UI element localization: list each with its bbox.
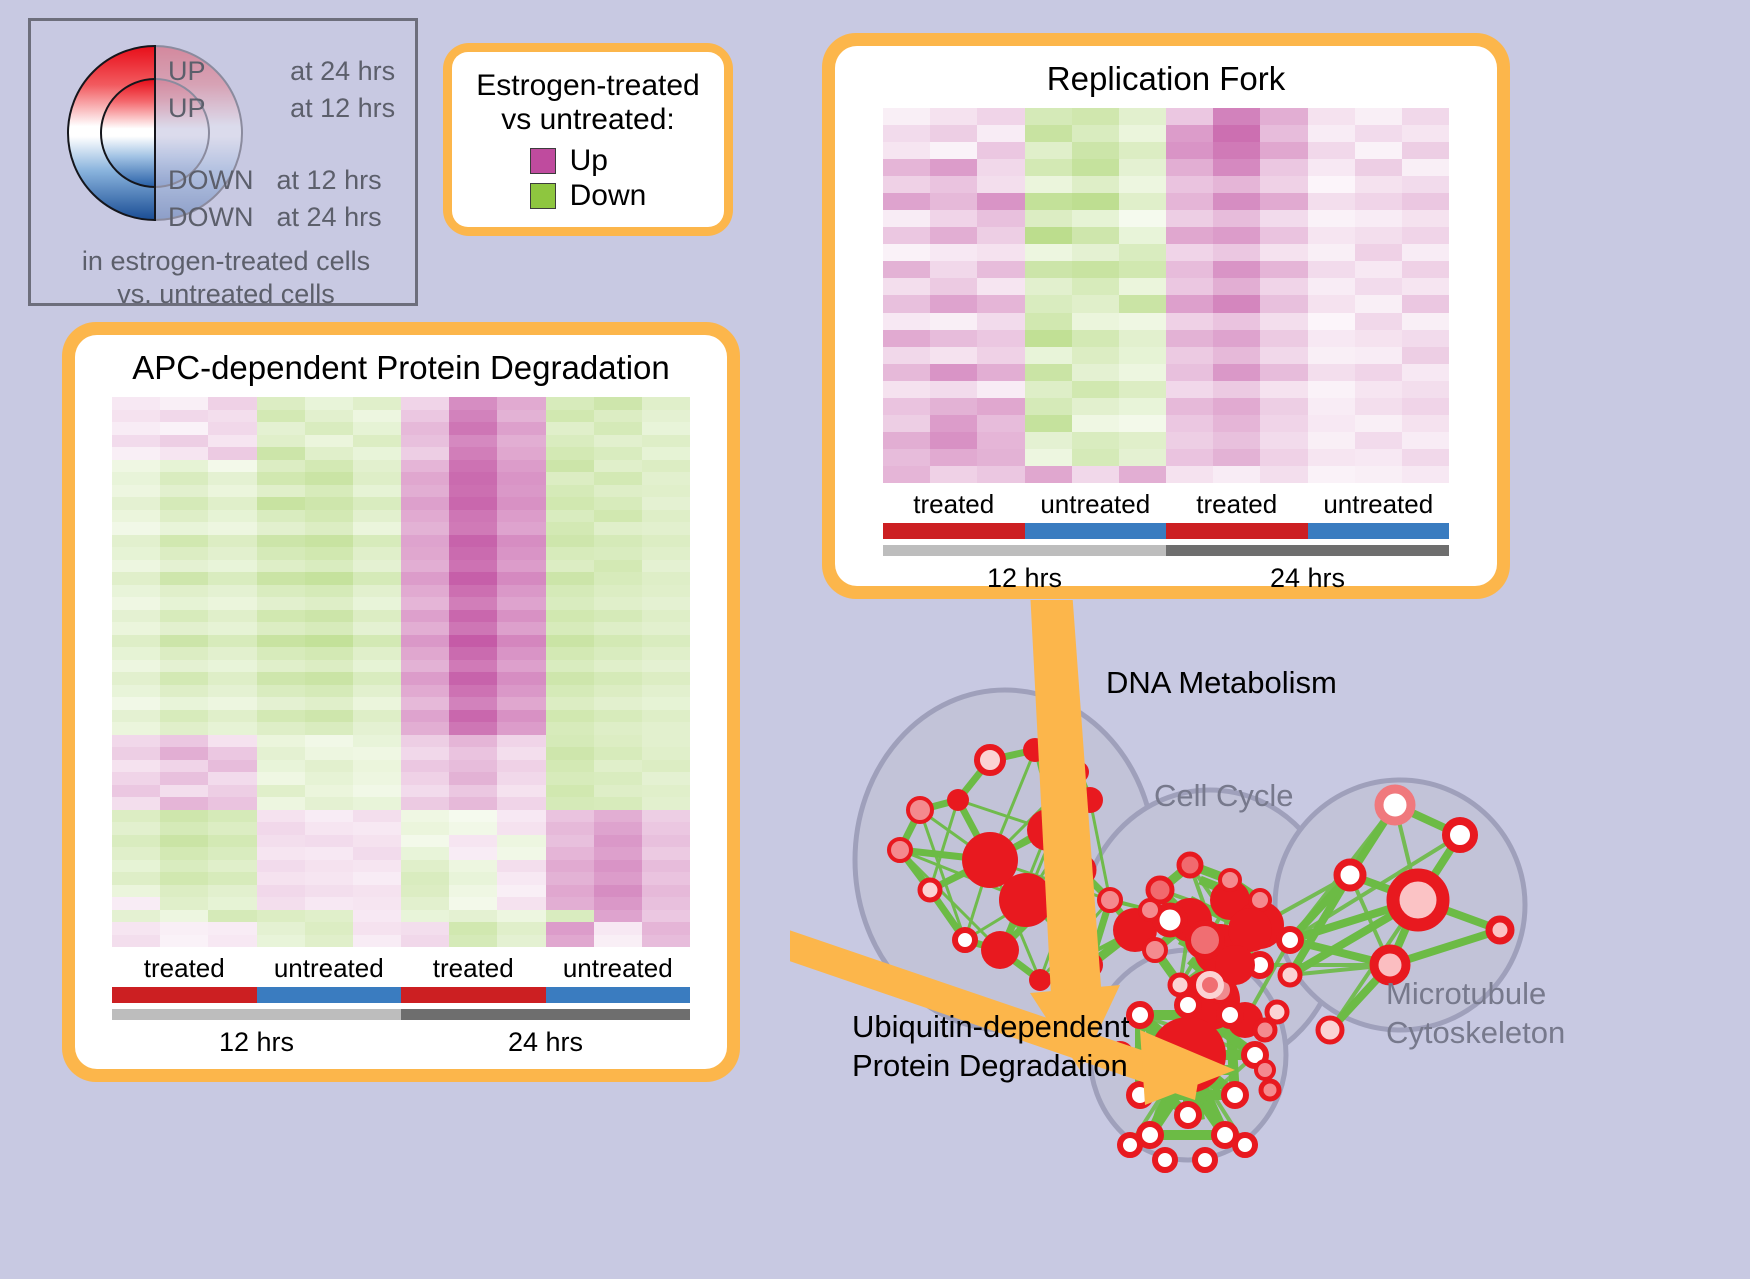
heatmap-cell	[257, 835, 305, 848]
heatmap-cell	[208, 847, 256, 860]
heatmap-cell	[977, 432, 1024, 449]
heatmap-cell	[1072, 193, 1119, 210]
node	[1280, 965, 1300, 985]
heatmap-cell	[112, 485, 160, 498]
node	[1129, 1004, 1151, 1026]
heatmap-cell	[1072, 295, 1119, 312]
heatmap-cell	[353, 810, 401, 823]
heatmap-cell	[497, 635, 545, 648]
heatmap-cell	[401, 535, 449, 548]
heatmap-cell	[642, 747, 690, 760]
heatmap-cell	[1402, 330, 1449, 347]
heatmap-cell	[208, 510, 256, 523]
heatmap-cell	[930, 227, 977, 244]
heatmap-cell	[401, 685, 449, 698]
heatmap-cell	[642, 560, 690, 573]
heatmap-cell	[353, 397, 401, 410]
heatmap-cell	[594, 810, 642, 823]
heatmap-cell	[1025, 347, 1072, 364]
heatmap-cell	[1355, 415, 1402, 432]
heatmap-cell	[594, 872, 642, 885]
heatmap-cell	[1402, 193, 1449, 210]
heatmap-cell	[1402, 295, 1449, 312]
heatmap-cell	[257, 797, 305, 810]
heatmap-cell	[1025, 244, 1072, 261]
heatmap-cell	[305, 785, 353, 798]
heatmap-cell	[353, 535, 401, 548]
heatmap-cell	[546, 785, 594, 798]
heatmap-cell	[1119, 210, 1166, 227]
heatmap-cell	[977, 142, 1024, 159]
heatmap-cell	[1213, 210, 1260, 227]
colorbar-center-divider	[154, 45, 156, 221]
heatmap-cell	[497, 572, 545, 585]
heatmap-cell	[1119, 193, 1166, 210]
heatmap-cell	[594, 672, 642, 685]
heatmap-cell	[208, 610, 256, 623]
heatmap-cell	[257, 885, 305, 898]
heatmap-cell	[977, 261, 1024, 278]
heatmap-cell	[305, 697, 353, 710]
heatmap-cell	[1402, 381, 1449, 398]
heatmap-cell	[305, 410, 353, 423]
heatmap-cell	[1025, 432, 1072, 449]
heatmap-cell	[257, 897, 305, 910]
heatmap-cell	[401, 522, 449, 535]
heatmap-cell	[1166, 398, 1213, 415]
heatmap-cell	[112, 697, 160, 710]
heatmap-cell	[160, 797, 208, 810]
heatmap-cell	[1308, 364, 1355, 381]
heatmap-cell	[594, 422, 642, 435]
heatmap-cell	[353, 510, 401, 523]
heatmap-cell	[594, 610, 642, 623]
heatmap-cell	[497, 897, 545, 910]
heatmap-cell	[353, 597, 401, 610]
heatmap-cell	[1072, 381, 1119, 398]
heatmap-cell	[1213, 295, 1260, 312]
heatmap-cell	[1213, 278, 1260, 295]
heatmap-cell	[977, 381, 1024, 398]
node	[1177, 994, 1199, 1016]
heatmap-cell	[305, 635, 353, 648]
heatmap-cell	[257, 785, 305, 798]
heatmap-cell	[208, 422, 256, 435]
heatmap-cell	[1072, 398, 1119, 415]
heatmap-cell	[883, 415, 930, 432]
heatmap-cell	[497, 872, 545, 885]
heatmap-cell	[449, 435, 497, 448]
heatmap-cell	[353, 847, 401, 860]
heatmap-cell	[1166, 278, 1213, 295]
heatmap-cell	[1355, 159, 1402, 176]
node	[1235, 1135, 1255, 1155]
heatmap-cell	[546, 885, 594, 898]
heatmap-cell	[449, 847, 497, 860]
heatmap-cell	[1025, 142, 1072, 159]
heatmap-cell	[594, 685, 642, 698]
heatmap-cell	[449, 760, 497, 773]
heatmap-cell	[594, 860, 642, 873]
heatmap-cell	[160, 847, 208, 860]
heatmap-cell	[546, 560, 594, 573]
heatmap-cell	[305, 472, 353, 485]
node	[981, 931, 1019, 969]
heatmap-cell	[1213, 176, 1260, 193]
node	[1379, 789, 1411, 821]
heatmap-cell	[160, 697, 208, 710]
heatmap-cell	[305, 572, 353, 585]
heatmap-cell	[594, 597, 642, 610]
heatmap-cell	[401, 622, 449, 635]
node	[889, 839, 911, 861]
heatmap-cell	[642, 685, 690, 698]
heatmap-cell	[546, 810, 594, 823]
group-labels-replication-fork: treated untreated treated untreated	[883, 483, 1449, 523]
heatmap-cell	[883, 364, 930, 381]
heatmap-cell	[1166, 381, 1213, 398]
time-label-12hrs: 12 hrs	[112, 1020, 401, 1058]
heatmap-cell	[497, 610, 545, 623]
heatmap-cell	[642, 710, 690, 723]
heatmap-cell	[160, 910, 208, 923]
heatmap-cell	[208, 897, 256, 910]
heatmap-cell	[1402, 364, 1449, 381]
heatmap-cell	[305, 872, 353, 885]
heatmap-cell	[160, 422, 208, 435]
node	[1179, 854, 1201, 876]
heatmap-cell	[112, 835, 160, 848]
heatmap-cell	[305, 597, 353, 610]
heatmap-cell	[497, 685, 545, 698]
heatmap-cell	[883, 176, 930, 193]
heatmap-cell	[112, 885, 160, 898]
heatmap-cell	[497, 535, 545, 548]
heatmap-cell	[401, 835, 449, 848]
heatmap-cell	[1025, 415, 1072, 432]
heatmap-cell	[977, 313, 1024, 330]
heatmap-cell	[930, 449, 977, 466]
heatmap-cell	[1072, 278, 1119, 295]
heatmap-cell	[401, 460, 449, 473]
group-label-1: untreated	[1025, 483, 1167, 523]
heatmap-cell	[546, 760, 594, 773]
heatmap-cell	[112, 660, 160, 673]
heatmap-cell	[305, 797, 353, 810]
treatment-bar-replication-fork	[883, 523, 1449, 539]
heatmap-cell	[160, 772, 208, 785]
heatmap-cell	[257, 472, 305, 485]
heatmap-cell	[642, 585, 690, 598]
heatmap-cell	[1072, 449, 1119, 466]
heatmap-cell	[642, 860, 690, 873]
heatmap-cell	[449, 697, 497, 710]
heatmap-cell	[1166, 108, 1213, 125]
heatmap-cell	[883, 244, 930, 261]
time-labels-apc: 12 hrs 24 hrs	[112, 1020, 690, 1058]
heatmap-cell	[257, 547, 305, 560]
heatmap-cell	[497, 810, 545, 823]
heatmap-cell	[257, 422, 305, 435]
heatmap-cell	[257, 572, 305, 585]
heatmap-cell	[353, 747, 401, 760]
panel-title-apc: APC-dependent Protein Degradation	[132, 349, 670, 387]
heatmap-cell	[401, 422, 449, 435]
heatmap-cell	[449, 685, 497, 698]
heatmap-cell	[449, 635, 497, 648]
treatment-seg-2	[1166, 523, 1308, 539]
heatmap-cell	[1308, 278, 1355, 295]
heatmap-cell	[642, 885, 690, 898]
heatmap-cell	[1166, 415, 1213, 432]
heatmap-cell	[1119, 227, 1166, 244]
heatmap-cell	[1402, 449, 1449, 466]
heatmap-cell	[546, 635, 594, 648]
heatmap-cell	[546, 435, 594, 448]
heatmap-cell	[1213, 142, 1260, 159]
heatmap-cell	[977, 125, 1024, 142]
heatmap-cell	[546, 672, 594, 685]
heatmap-cell	[930, 142, 977, 159]
node	[1337, 862, 1363, 888]
heatmap-cell	[594, 510, 642, 523]
cluster-label-ubiquitin: Ubiquitin-dependent Protein Degradation	[852, 1008, 1130, 1086]
heatmap-cell	[1308, 261, 1355, 278]
heatmap-cell	[1402, 466, 1449, 483]
heatmap-cell	[401, 397, 449, 410]
heatmap-cell	[546, 647, 594, 660]
heatmap-cell	[883, 381, 930, 398]
heatmap-cell	[160, 785, 208, 798]
heatmap-cell	[112, 585, 160, 598]
heatmap-cell	[546, 735, 594, 748]
heatmap-cell	[160, 647, 208, 660]
heatmap-cell	[160, 660, 208, 673]
heatmap-cell	[353, 622, 401, 635]
heatmap-cell	[160, 860, 208, 873]
heatmap-cell	[353, 547, 401, 560]
heatmap-cell	[208, 922, 256, 935]
heatmap-cell	[353, 435, 401, 448]
heatmap-cell	[112, 560, 160, 573]
heatmap-cell	[642, 410, 690, 423]
heatmap-cell	[1119, 176, 1166, 193]
heatmap-cell	[449, 585, 497, 598]
heatmap-cell	[546, 747, 594, 760]
heatmap-cell	[497, 597, 545, 610]
heatmap-cell	[1355, 227, 1402, 244]
heatmap-cell	[353, 410, 401, 423]
heatmap-cell	[112, 822, 160, 835]
heatmap-cell	[160, 710, 208, 723]
heatmap-cell	[1072, 313, 1119, 330]
heatmap-cell	[642, 760, 690, 773]
heatmap-cell	[305, 510, 353, 523]
heatmap-cell	[1213, 159, 1260, 176]
heatmap-cell	[305, 485, 353, 498]
heatmap-cell	[401, 897, 449, 910]
heatmap-cell	[1308, 398, 1355, 415]
heatmap-cell	[257, 672, 305, 685]
heatmap-cell	[546, 835, 594, 848]
heatmap-cell	[977, 364, 1024, 381]
node	[1446, 821, 1474, 849]
heatmap-cell	[1072, 244, 1119, 261]
heatmap-cell	[546, 822, 594, 835]
heatmap-cell	[208, 410, 256, 423]
heatmap-cell	[401, 510, 449, 523]
heatmap-cell	[642, 647, 690, 660]
heatmap-cell	[401, 485, 449, 498]
heatmap-cell	[642, 660, 690, 673]
heatmap-cell	[449, 647, 497, 660]
heatmap-cell	[497, 672, 545, 685]
heatmap-cell	[642, 722, 690, 735]
heatmap-cell	[594, 822, 642, 835]
heatmap-cell	[160, 522, 208, 535]
heatmap-cell	[594, 572, 642, 585]
heatmap-cell	[1072, 261, 1119, 278]
heatmap-cell	[930, 261, 977, 278]
heatmap-cell	[1119, 364, 1166, 381]
heatmap-cell	[1402, 244, 1449, 261]
heatmap-cell	[449, 672, 497, 685]
heatmap-cell	[401, 572, 449, 585]
heatmap-cell	[160, 535, 208, 548]
heatmap-cell	[401, 672, 449, 685]
heatmap-cell	[401, 910, 449, 923]
heatmap-cell	[594, 835, 642, 848]
heatmap-cell	[1355, 125, 1402, 142]
heatmap-cell	[642, 697, 690, 710]
heatmap-cell	[883, 466, 930, 483]
heatmap-cell	[353, 610, 401, 623]
node	[1155, 1150, 1175, 1170]
heatmap-cell	[208, 535, 256, 548]
heatmap-cell	[1119, 330, 1166, 347]
heatmap-cell	[305, 660, 353, 673]
heatmap-cell	[930, 193, 977, 210]
heatmap-cell	[257, 597, 305, 610]
heatmap-cell	[208, 822, 256, 835]
node	[1220, 870, 1240, 890]
heatmap-cell	[1119, 398, 1166, 415]
heatmap-cell	[1355, 313, 1402, 330]
heatmap-cell	[497, 847, 545, 860]
heatmap-cell	[1260, 347, 1307, 364]
heatmap-cell	[1260, 466, 1307, 483]
heatmap-cell	[1308, 432, 1355, 449]
heatmap-cell	[546, 597, 594, 610]
heatmap-cell	[930, 364, 977, 381]
heatmap-cell	[401, 760, 449, 773]
heatmap-cell	[257, 735, 305, 748]
heatmap-cell	[642, 810, 690, 823]
heatmap-cell	[642, 572, 690, 585]
heatmap-cell	[977, 330, 1024, 347]
heatmap-cell	[594, 410, 642, 423]
heatmap-cell	[497, 747, 545, 760]
heatmap-cell	[401, 710, 449, 723]
heatmap-cell	[112, 547, 160, 560]
heatmap-cell	[642, 672, 690, 685]
heatmap-cell	[449, 622, 497, 635]
heatmap-cell	[401, 747, 449, 760]
heatmap-cell	[160, 672, 208, 685]
heatmap-cell	[257, 910, 305, 923]
cluster-label-ub-line1: Ubiquitin-dependent	[852, 1008, 1130, 1047]
heatmap-cell	[112, 447, 160, 460]
heatmap-cell	[497, 835, 545, 848]
heatmap-cell	[1355, 466, 1402, 483]
heatmap-cell	[112, 847, 160, 860]
heatmap-cell	[930, 159, 977, 176]
heatmap-cell	[401, 822, 449, 835]
heatmap-cell	[1025, 364, 1072, 381]
heatmap-cell	[257, 560, 305, 573]
heatmap-cell	[160, 485, 208, 498]
heatmap-cell	[546, 797, 594, 810]
node	[1250, 890, 1270, 910]
heatmap-cell	[208, 647, 256, 660]
heatmap-cell	[594, 435, 642, 448]
heatmap-cell	[1025, 381, 1072, 398]
up-swatch-icon	[530, 148, 556, 174]
heatmap-cell	[1166, 295, 1213, 312]
heatmap-cell	[401, 785, 449, 798]
treatment-seg-0	[883, 523, 1025, 539]
heatmap-cell	[1213, 125, 1260, 142]
heatmap-cell	[1213, 432, 1260, 449]
heatmap-cell	[1308, 125, 1355, 142]
heatmap-cell	[642, 435, 690, 448]
heatmap-cell	[305, 722, 353, 735]
heatmap-cell	[642, 797, 690, 810]
heatmap-cell	[642, 510, 690, 523]
heatmap-cell	[594, 697, 642, 710]
heatmap-cell	[1072, 432, 1119, 449]
heatmap-cell	[112, 685, 160, 698]
heatmap-cell	[883, 159, 930, 176]
time-seg-24hrs	[1166, 545, 1449, 556]
heatmap-cell	[353, 897, 401, 910]
heatmap-cell	[546, 572, 594, 585]
heatmap-cell	[1025, 159, 1072, 176]
heatmap-cell	[353, 910, 401, 923]
heatmap-cell	[257, 660, 305, 673]
heatmap-cell	[1213, 330, 1260, 347]
heatmap-cell	[1355, 449, 1402, 466]
heatmap-cell	[1308, 449, 1355, 466]
heatmap-cell	[497, 460, 545, 473]
heatmap-cell	[497, 860, 545, 873]
heatmap-cell	[401, 847, 449, 860]
network-svg	[790, 600, 1750, 1279]
heatmap-cell	[305, 497, 353, 510]
heatmap-cell	[112, 797, 160, 810]
heatmap-cell	[160, 572, 208, 585]
heatmap-cell	[930, 432, 977, 449]
node	[920, 880, 940, 900]
heatmap-cell	[642, 897, 690, 910]
heatmap-cell	[257, 410, 305, 423]
heatmap-cell	[497, 397, 545, 410]
group-label-3: untreated	[546, 947, 691, 987]
heatmap-cell	[160, 497, 208, 510]
heatmap-cell	[594, 935, 642, 948]
heatmap-cell	[546, 410, 594, 423]
heatmap-cell	[305, 547, 353, 560]
